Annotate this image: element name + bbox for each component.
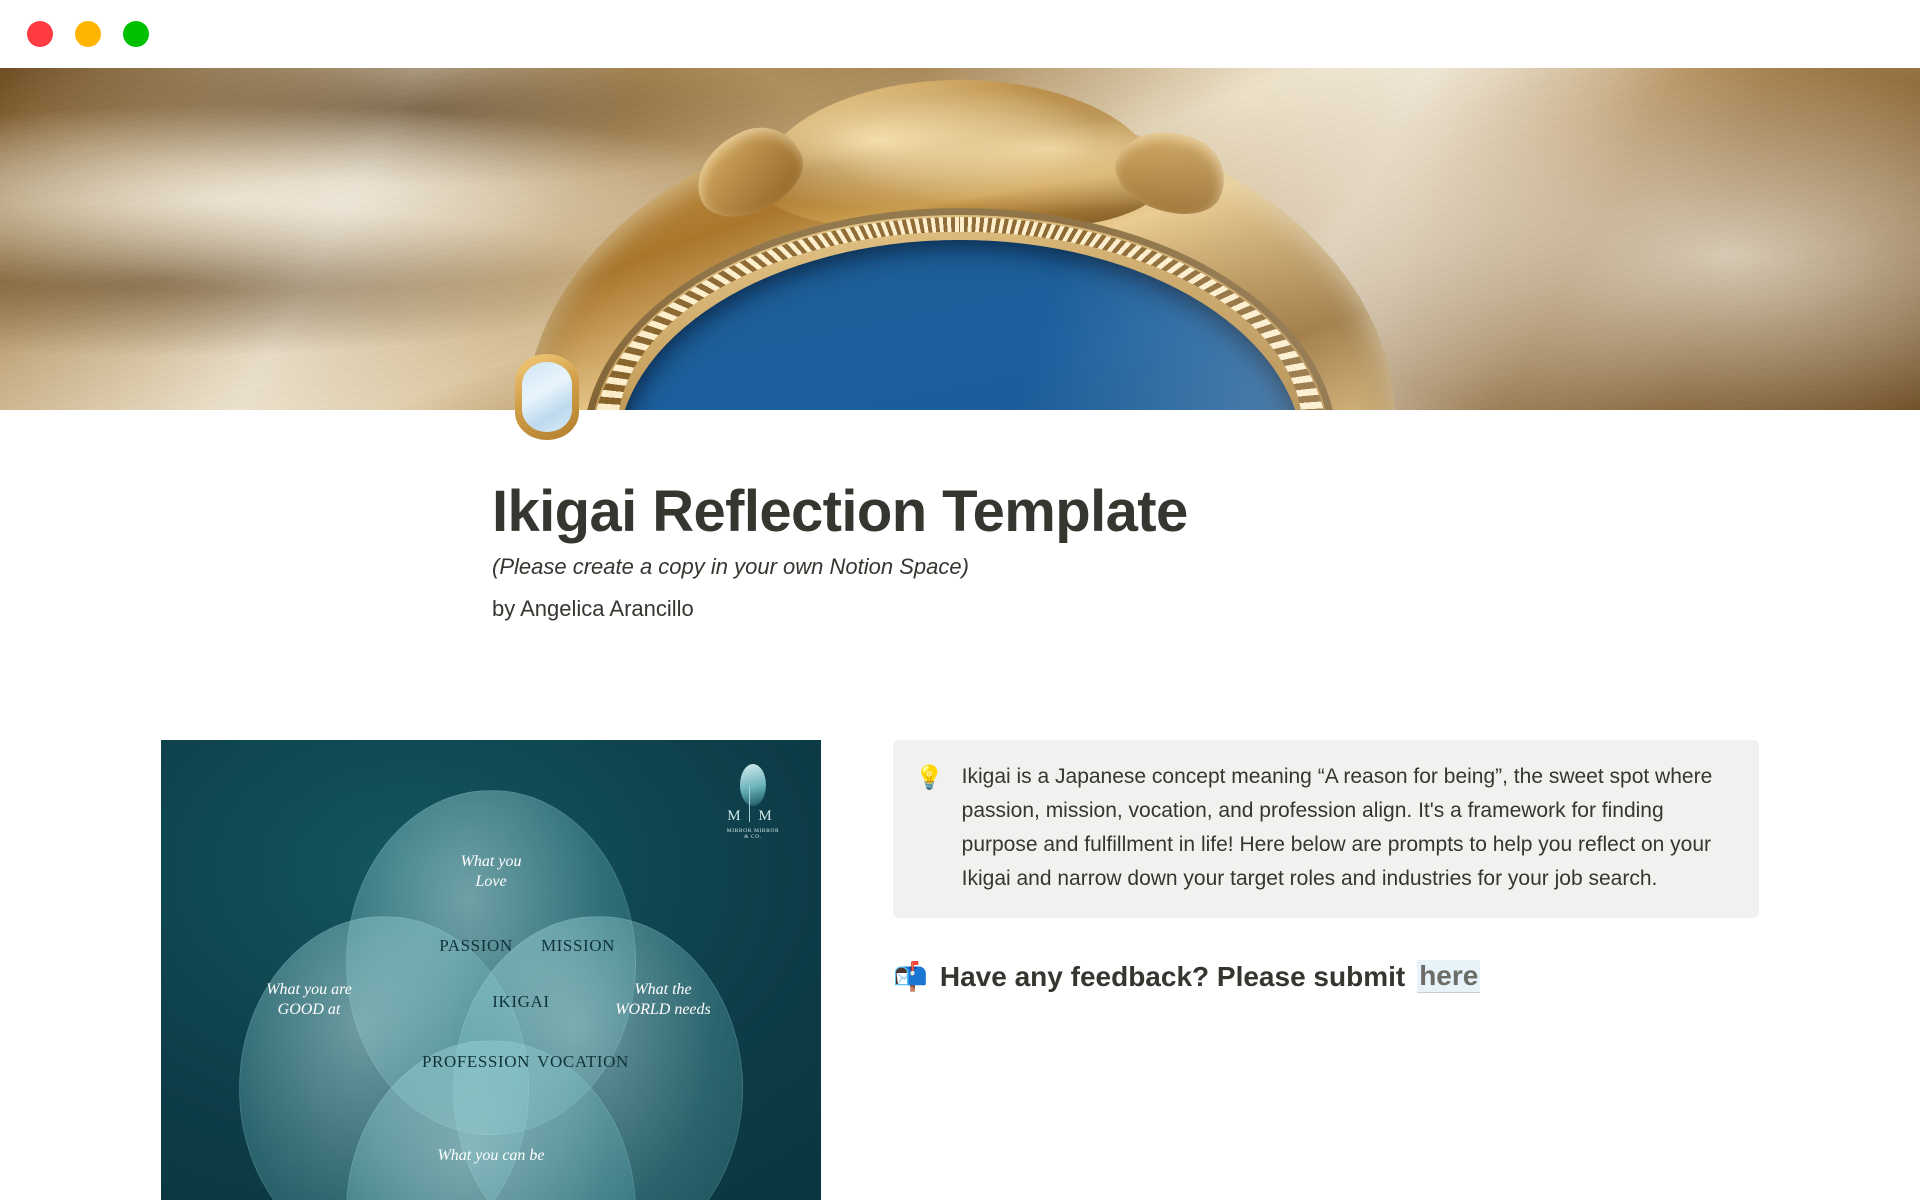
callout-text: Ikigai is a Japanese concept meaning “A … [962, 760, 1735, 896]
logo-monogram: M M [715, 808, 791, 825]
window-title-bar [0, 0, 1920, 68]
fabric-sheen-overlay [0, 68, 1920, 410]
page-subtitle[interactable]: (Please create a copy in your own Notion… [492, 554, 969, 580]
lightbulb-icon: 💡 [915, 760, 944, 896]
feedback-heading: 📬 Have any feedback? Please submit here [893, 960, 1480, 993]
feedback-submit-link[interactable]: here [1417, 960, 1480, 993]
page-icon-mirror[interactable] [515, 354, 579, 440]
ikigai-callout-block[interactable]: 💡 Ikigai is a Japanese concept meaning “… [893, 740, 1759, 918]
mirror-icon-glass [522, 362, 572, 432]
window-controls [27, 21, 149, 47]
logo-name-line-2: & CO. [715, 834, 791, 840]
venn-label-good-at: What you are GOOD at [219, 980, 399, 1021]
ikigai-venn-diagram-image[interactable]: What you Love What you are GOOD at What … [161, 740, 821, 1200]
venn-intersection-vocation: VOCATION [513, 1052, 653, 1072]
page-body: Ikigai Reflection Template (Please creat… [0, 410, 1920, 1200]
mailbox-icon: 📬 [893, 960, 928, 993]
venn-label-love: What you Love [401, 852, 581, 893]
maximize-window-button[interactable] [123, 21, 149, 47]
mirror-icon [515, 354, 579, 440]
page-cover-image[interactable] [0, 68, 1920, 410]
mirror-mirror-logo: M M MIRROR MIRROR & CO. [715, 764, 791, 840]
venn-label-paid-for: What you can be [401, 1146, 581, 1166]
feedback-text: Have any feedback? Please submit [940, 961, 1405, 993]
logo-oval-mirror-icon [740, 764, 766, 806]
venn-intersection-mission: MISSION [513, 936, 643, 956]
minimize-window-button[interactable] [75, 21, 101, 47]
venn-intersection-ikigai: IKIGAI [461, 992, 581, 1012]
venn-label-world-needs: What the WORLD needs [573, 980, 753, 1021]
page-byline[interactable]: by Angelica Arancillo [492, 596, 694, 622]
page-title[interactable]: Ikigai Reflection Template [492, 478, 1188, 545]
close-window-button[interactable] [27, 21, 53, 47]
